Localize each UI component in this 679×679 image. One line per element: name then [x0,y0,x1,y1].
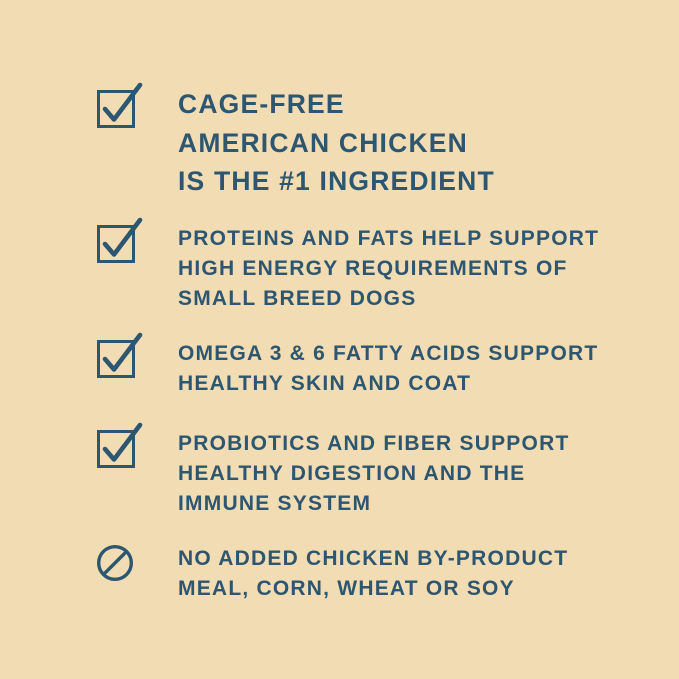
feature-row: CAGE-FREE AMERICAN CHICKEN IS THE #1 ING… [96,88,495,201]
feature-text: OMEGA 3 & 6 FATTY ACIDS SUPPORT HEALTHY … [178,339,598,399]
checkbox-checked-icon [96,223,140,267]
feature-text: NO ADDED CHICKEN BY-PRODUCT MEAL, CORN, … [178,544,568,604]
feature-row: OMEGA 3 & 6 FATTY ACIDS SUPPORT HEALTHY … [96,338,598,399]
feature-benefits-list: CAGE-FREE AMERICAN CHICKEN IS THE #1 ING… [0,0,679,679]
checkbox-checked-icon [96,428,140,472]
feature-row: PROTEINS AND FATS HELP SUPPORT HIGH ENER… [96,223,599,314]
feature-text: PROTEINS AND FATS HELP SUPPORT HIGH ENER… [178,224,599,314]
checkbox-checked-icon [96,338,140,382]
feature-row: PROBIOTICS AND FIBER SUPPORT HEALTHY DIG… [96,428,570,519]
feature-row: NO ADDED CHICKEN BY-PRODUCT MEAL, CORN, … [96,543,568,604]
checkbox-checked-icon [96,88,140,132]
feature-text: PROBIOTICS AND FIBER SUPPORT HEALTHY DIG… [178,429,570,519]
feature-text: CAGE-FREE AMERICAN CHICKEN IS THE #1 ING… [178,85,495,201]
prohibition-icon [96,543,140,587]
